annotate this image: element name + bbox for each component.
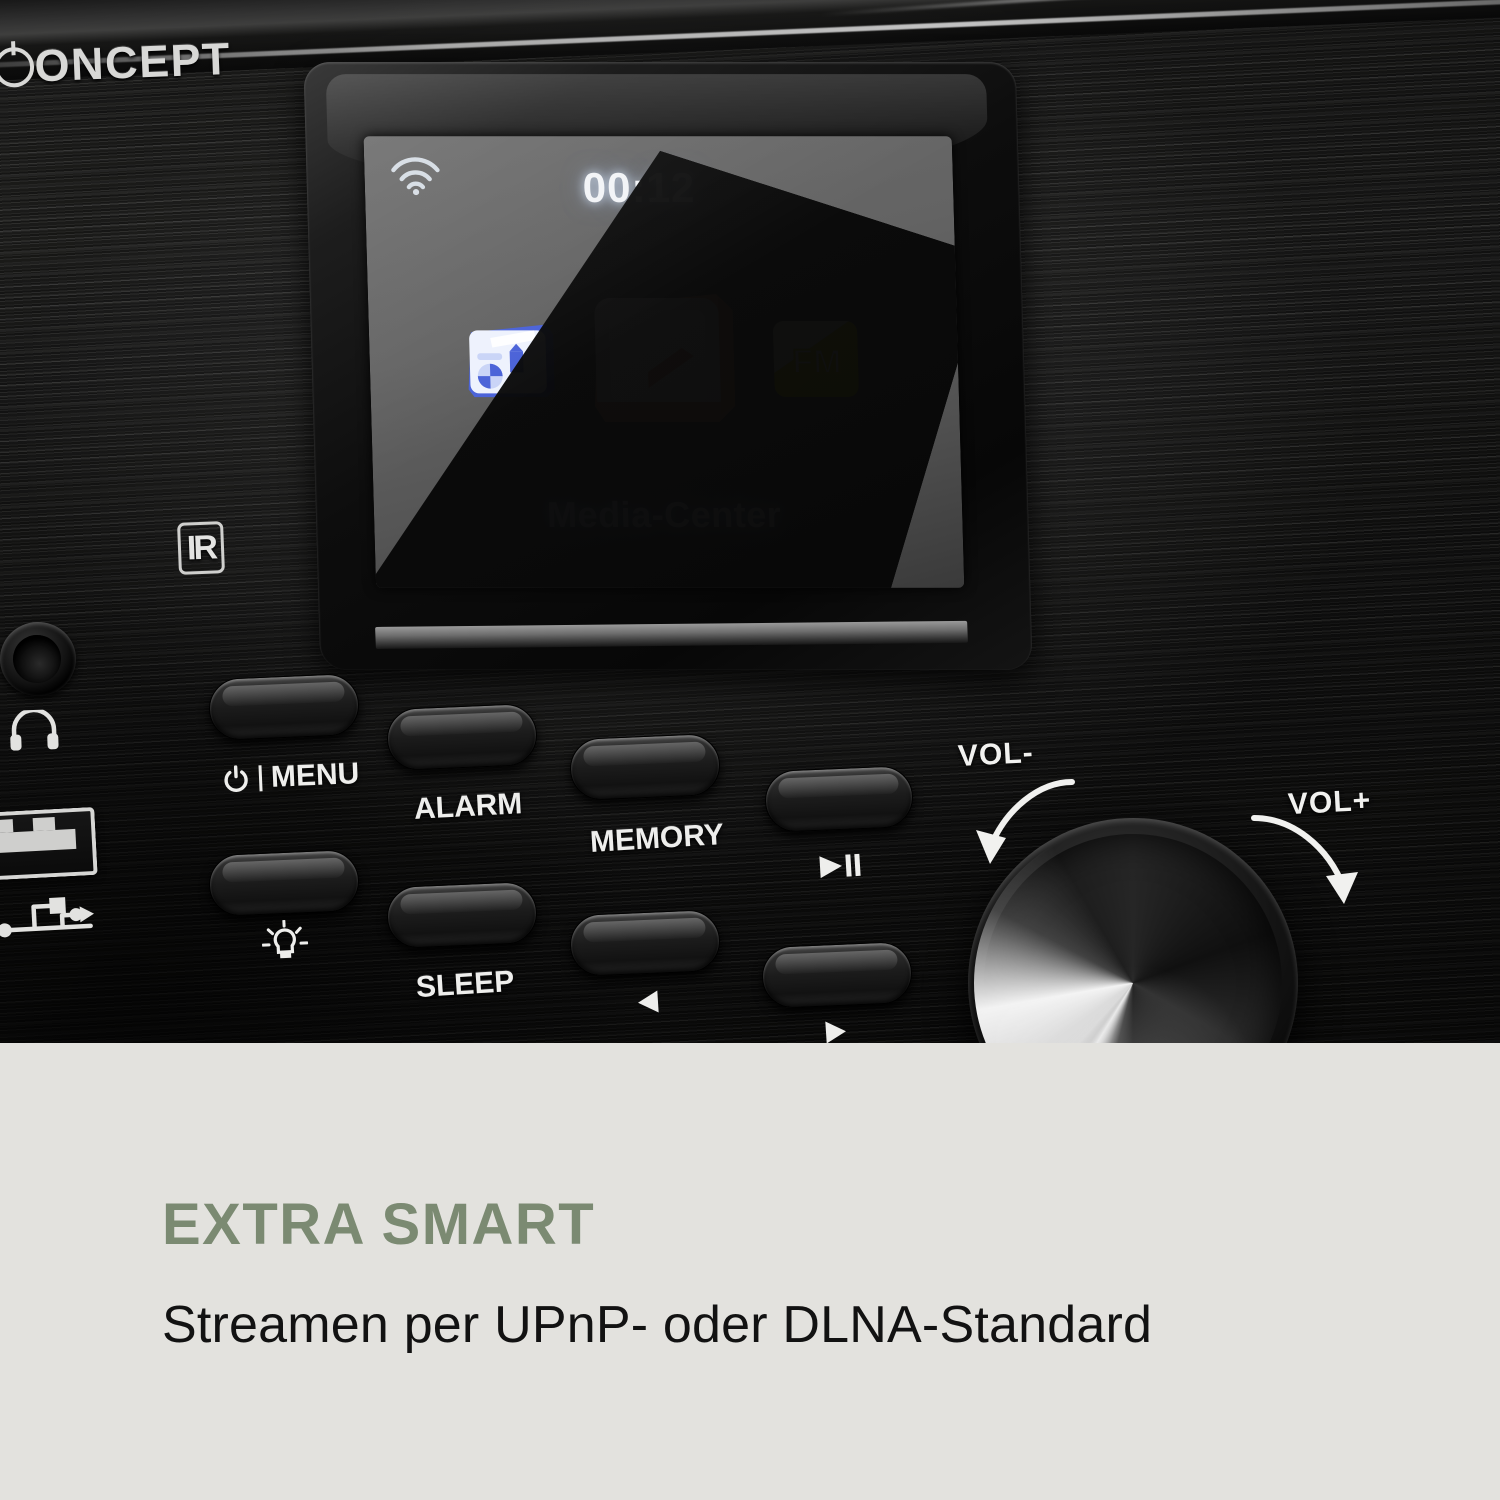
caption-subtitle: Streamen per UPnP- oder DLNA-Standard: [162, 1295, 1152, 1355]
caption-block: EXTRA SMART Streamen per UPnP- oder DLNA…: [0, 1043, 1500, 1500]
arrow-right-icon: [817, 1017, 851, 1043]
memory-button[interactable]: [569, 733, 721, 801]
play-pause-button[interactable]: [764, 765, 914, 833]
lcd-screen[interactable]: 00:12: [363, 136, 964, 588]
headphone-icon: [7, 709, 60, 751]
prev-button[interactable]: [569, 909, 721, 977]
product-feature-image: e ONCEPT 00:12: [0, 0, 1500, 1500]
power-menu-label: MENU: [221, 757, 360, 797]
next-label: [817, 1017, 851, 1043]
screen-bottom-lip: [375, 621, 968, 649]
next-button[interactable]: [761, 941, 913, 1009]
caption-title: EXTRA SMART: [162, 1191, 595, 1258]
power-menu-text: MENU: [270, 757, 360, 795]
brand-logo-ring-icon: [0, 47, 34, 89]
play-pause-icon: [817, 851, 863, 882]
brand-logo-suffix: ONCEPT: [34, 33, 232, 93]
backlight-button[interactable]: [208, 849, 360, 917]
brand-logo: e ONCEPT: [0, 33, 232, 95]
usb-port[interactable]: [0, 807, 98, 881]
usb-icon: [0, 885, 105, 945]
play-pause-label: [817, 851, 863, 882]
power-menu-button[interactable]: [208, 673, 360, 741]
power-icon: [221, 765, 250, 794]
arrow-left-icon: [633, 987, 667, 1017]
ir-sensor-label: IR: [177, 521, 225, 575]
product-photo: e ONCEPT 00:12: [0, 0, 1500, 1043]
prev-label: [633, 987, 667, 1017]
sleep-button[interactable]: [386, 881, 538, 949]
alarm-text: ALARM: [413, 787, 523, 827]
volume-up-arrow-icon: [1236, 796, 1386, 916]
volume-down-arrow-icon: [944, 768, 1084, 878]
lightbulb-icon: [261, 919, 309, 967]
usb-port-tongue: [0, 829, 76, 854]
backlight-label: [261, 919, 309, 967]
sleep-label: SLEEP: [415, 965, 515, 1005]
display-bezel: 00:12: [303, 62, 1032, 670]
sleep-text: SLEEP: [415, 965, 515, 1005]
alarm-button[interactable]: [386, 703, 538, 771]
alarm-label: ALARM: [413, 787, 523, 827]
label-separator: [258, 765, 262, 791]
